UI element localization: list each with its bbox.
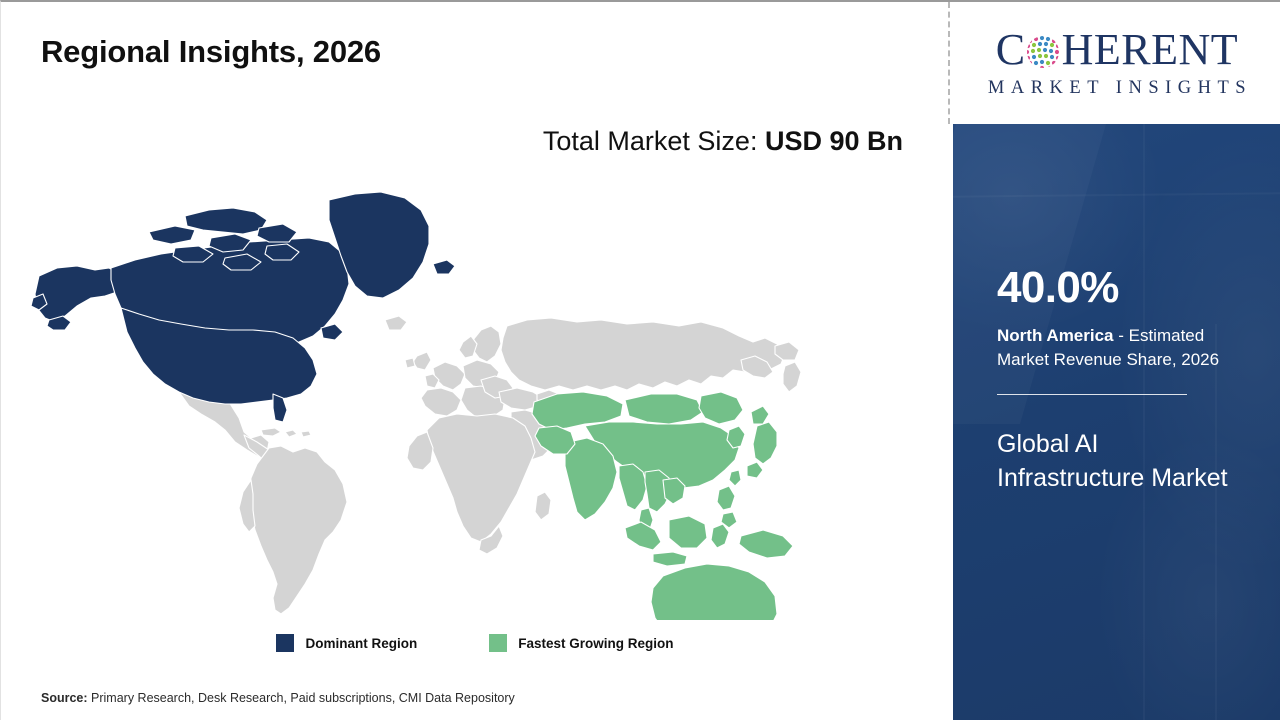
globe-dots-icon bbox=[1025, 34, 1061, 70]
legend-label-dominant-region: Dominant Region bbox=[305, 636, 417, 651]
map-region-north-america bbox=[31, 192, 455, 422]
panel-divider-rule bbox=[997, 394, 1187, 395]
world-map-svg bbox=[29, 180, 839, 620]
legend-label-fastest-growing-region: Fastest Growing Region bbox=[518, 636, 673, 651]
stat-percent-value: 40.0% bbox=[997, 266, 1237, 310]
total-market-size-label: Total Market Size: bbox=[543, 126, 765, 156]
stat-description: North America - Estimated Market Revenue… bbox=[997, 324, 1237, 372]
map-region-asia-pacific bbox=[532, 392, 827, 620]
vertical-dashed-divider bbox=[948, 2, 950, 124]
side-stat-panel: 40.0% North America - Estimated Market R… bbox=[953, 124, 1280, 720]
legend-item-dominant-region: Dominant Region bbox=[276, 634, 417, 652]
logo-subtext: MARKET INSIGHTS bbox=[982, 78, 1252, 99]
source-note: Source: Primary Research, Desk Research,… bbox=[41, 691, 515, 705]
stat-region-name: North America bbox=[997, 326, 1114, 345]
side-panel-content: 40.0% North America - Estimated Market R… bbox=[953, 266, 1280, 496]
regional-insights-infographic: Regional Insights, 2026 Total Market Siz… bbox=[0, 0, 1280, 720]
logo-wordmark: C bbox=[996, 28, 1238, 72]
square-swatch-icon bbox=[276, 634, 294, 652]
total-market-size-value: USD 90 Bn bbox=[765, 126, 903, 156]
brand-logo: C bbox=[953, 2, 1280, 124]
main-content-area: Regional Insights, 2026 Total Market Siz… bbox=[1, 2, 949, 720]
source-text: Primary Research, Desk Research, Paid su… bbox=[88, 691, 515, 705]
square-swatch-icon bbox=[489, 634, 507, 652]
legend-item-fastest-growing-region: Fastest Growing Region bbox=[489, 634, 673, 652]
map-legend: Dominant Region Fastest Growing Region bbox=[1, 634, 949, 652]
page-title: Regional Insights, 2026 bbox=[41, 34, 381, 70]
panel-texture bbox=[953, 192, 1280, 197]
source-label: Source: bbox=[41, 691, 88, 705]
world-map-container bbox=[29, 180, 839, 620]
total-market-size: Total Market Size: USD 90 Bn bbox=[543, 126, 903, 157]
logo-letters-herent: HERENT bbox=[1062, 28, 1239, 72]
logo-letter-c: C bbox=[996, 28, 1026, 72]
market-name: Global AI Infrastructure Market bbox=[997, 428, 1237, 496]
